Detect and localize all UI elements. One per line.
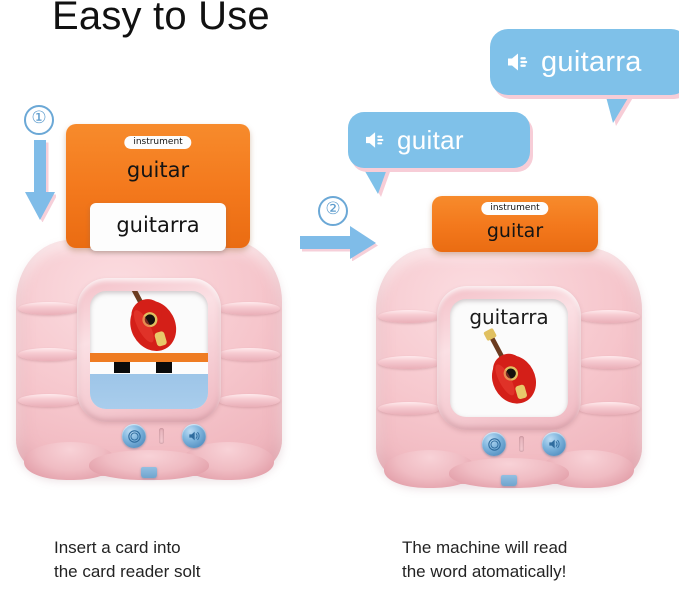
guitar-illustration	[461, 321, 557, 417]
card-category-badge: instrument	[481, 202, 548, 215]
card-word: guitar	[66, 158, 250, 182]
power-button-right[interactable]	[482, 432, 506, 456]
body-ridge	[18, 348, 80, 361]
card-reader-slot-left[interactable]	[159, 428, 164, 444]
screen-refresh-band	[90, 353, 208, 362]
speaker-icon	[506, 51, 532, 73]
screen-bezel-left	[77, 278, 221, 422]
power-ring-icon	[486, 436, 503, 453]
screen-bezel-right: guitarra	[437, 286, 581, 430]
speech-bubble-guitar: guitar	[348, 112, 530, 168]
device-right: guitarra	[366, 240, 652, 500]
caption-left: Insert a card into the card reader solt	[54, 536, 200, 584]
screen-right: guitarra	[450, 299, 568, 417]
usb-port-right	[501, 475, 517, 486]
page-title: Easy to Use	[52, 0, 270, 39]
volume-button-right[interactable]	[542, 432, 566, 456]
bubble-tail-guitarra	[605, 93, 631, 123]
body-ridge	[218, 302, 280, 315]
body-ridge	[218, 394, 280, 407]
body-ridge	[578, 402, 640, 415]
screen-refresh-band	[90, 362, 208, 374]
usb-port-left	[141, 467, 157, 478]
caption-right: The machine will read the word atomatica…	[402, 536, 567, 584]
screen-refresh-mark	[114, 362, 130, 373]
speaker-icon	[364, 130, 388, 150]
body-ridge	[218, 348, 280, 361]
bubble-tail-guitar	[362, 166, 388, 194]
speaker-icon	[186, 428, 202, 444]
flash-card-back-left[interactable]: guitarra	[90, 203, 226, 251]
flash-card-right[interactable]: instrument guitar	[432, 196, 598, 252]
screen-left	[90, 291, 208, 409]
body-ridge	[378, 356, 440, 369]
power-button-left[interactable]	[122, 424, 146, 448]
bubble-text: guitar	[397, 127, 464, 153]
card-word: guitar	[432, 220, 598, 242]
device-body-right: guitarra	[376, 248, 642, 484]
body-ridge	[578, 310, 640, 323]
card-back-word: guitarra	[90, 213, 226, 237]
down-arrow-icon	[24, 140, 56, 222]
speaker-icon	[546, 436, 562, 452]
speech-bubble-guitarra: guitarra	[490, 29, 679, 95]
bubble-text: guitarra	[541, 48, 642, 77]
card-reader-slot-right[interactable]	[519, 436, 524, 452]
power-ring-icon	[126, 428, 143, 445]
screen-refresh-mark	[156, 362, 172, 373]
body-ridge	[378, 310, 440, 323]
card-category-badge: instrument	[124, 136, 191, 149]
body-ridge	[18, 302, 80, 315]
device-left	[6, 232, 292, 500]
promo-graphic: Easy to Use ①	[0, 0, 679, 589]
volume-button-left[interactable]	[182, 424, 206, 448]
step-two-marker: ②	[318, 196, 348, 226]
body-ridge	[578, 356, 640, 369]
device-body-left	[16, 240, 282, 476]
screen-refresh-band	[90, 374, 208, 409]
step-one-marker: ①	[24, 105, 54, 135]
body-ridge	[18, 394, 80, 407]
body-ridge	[378, 402, 440, 415]
